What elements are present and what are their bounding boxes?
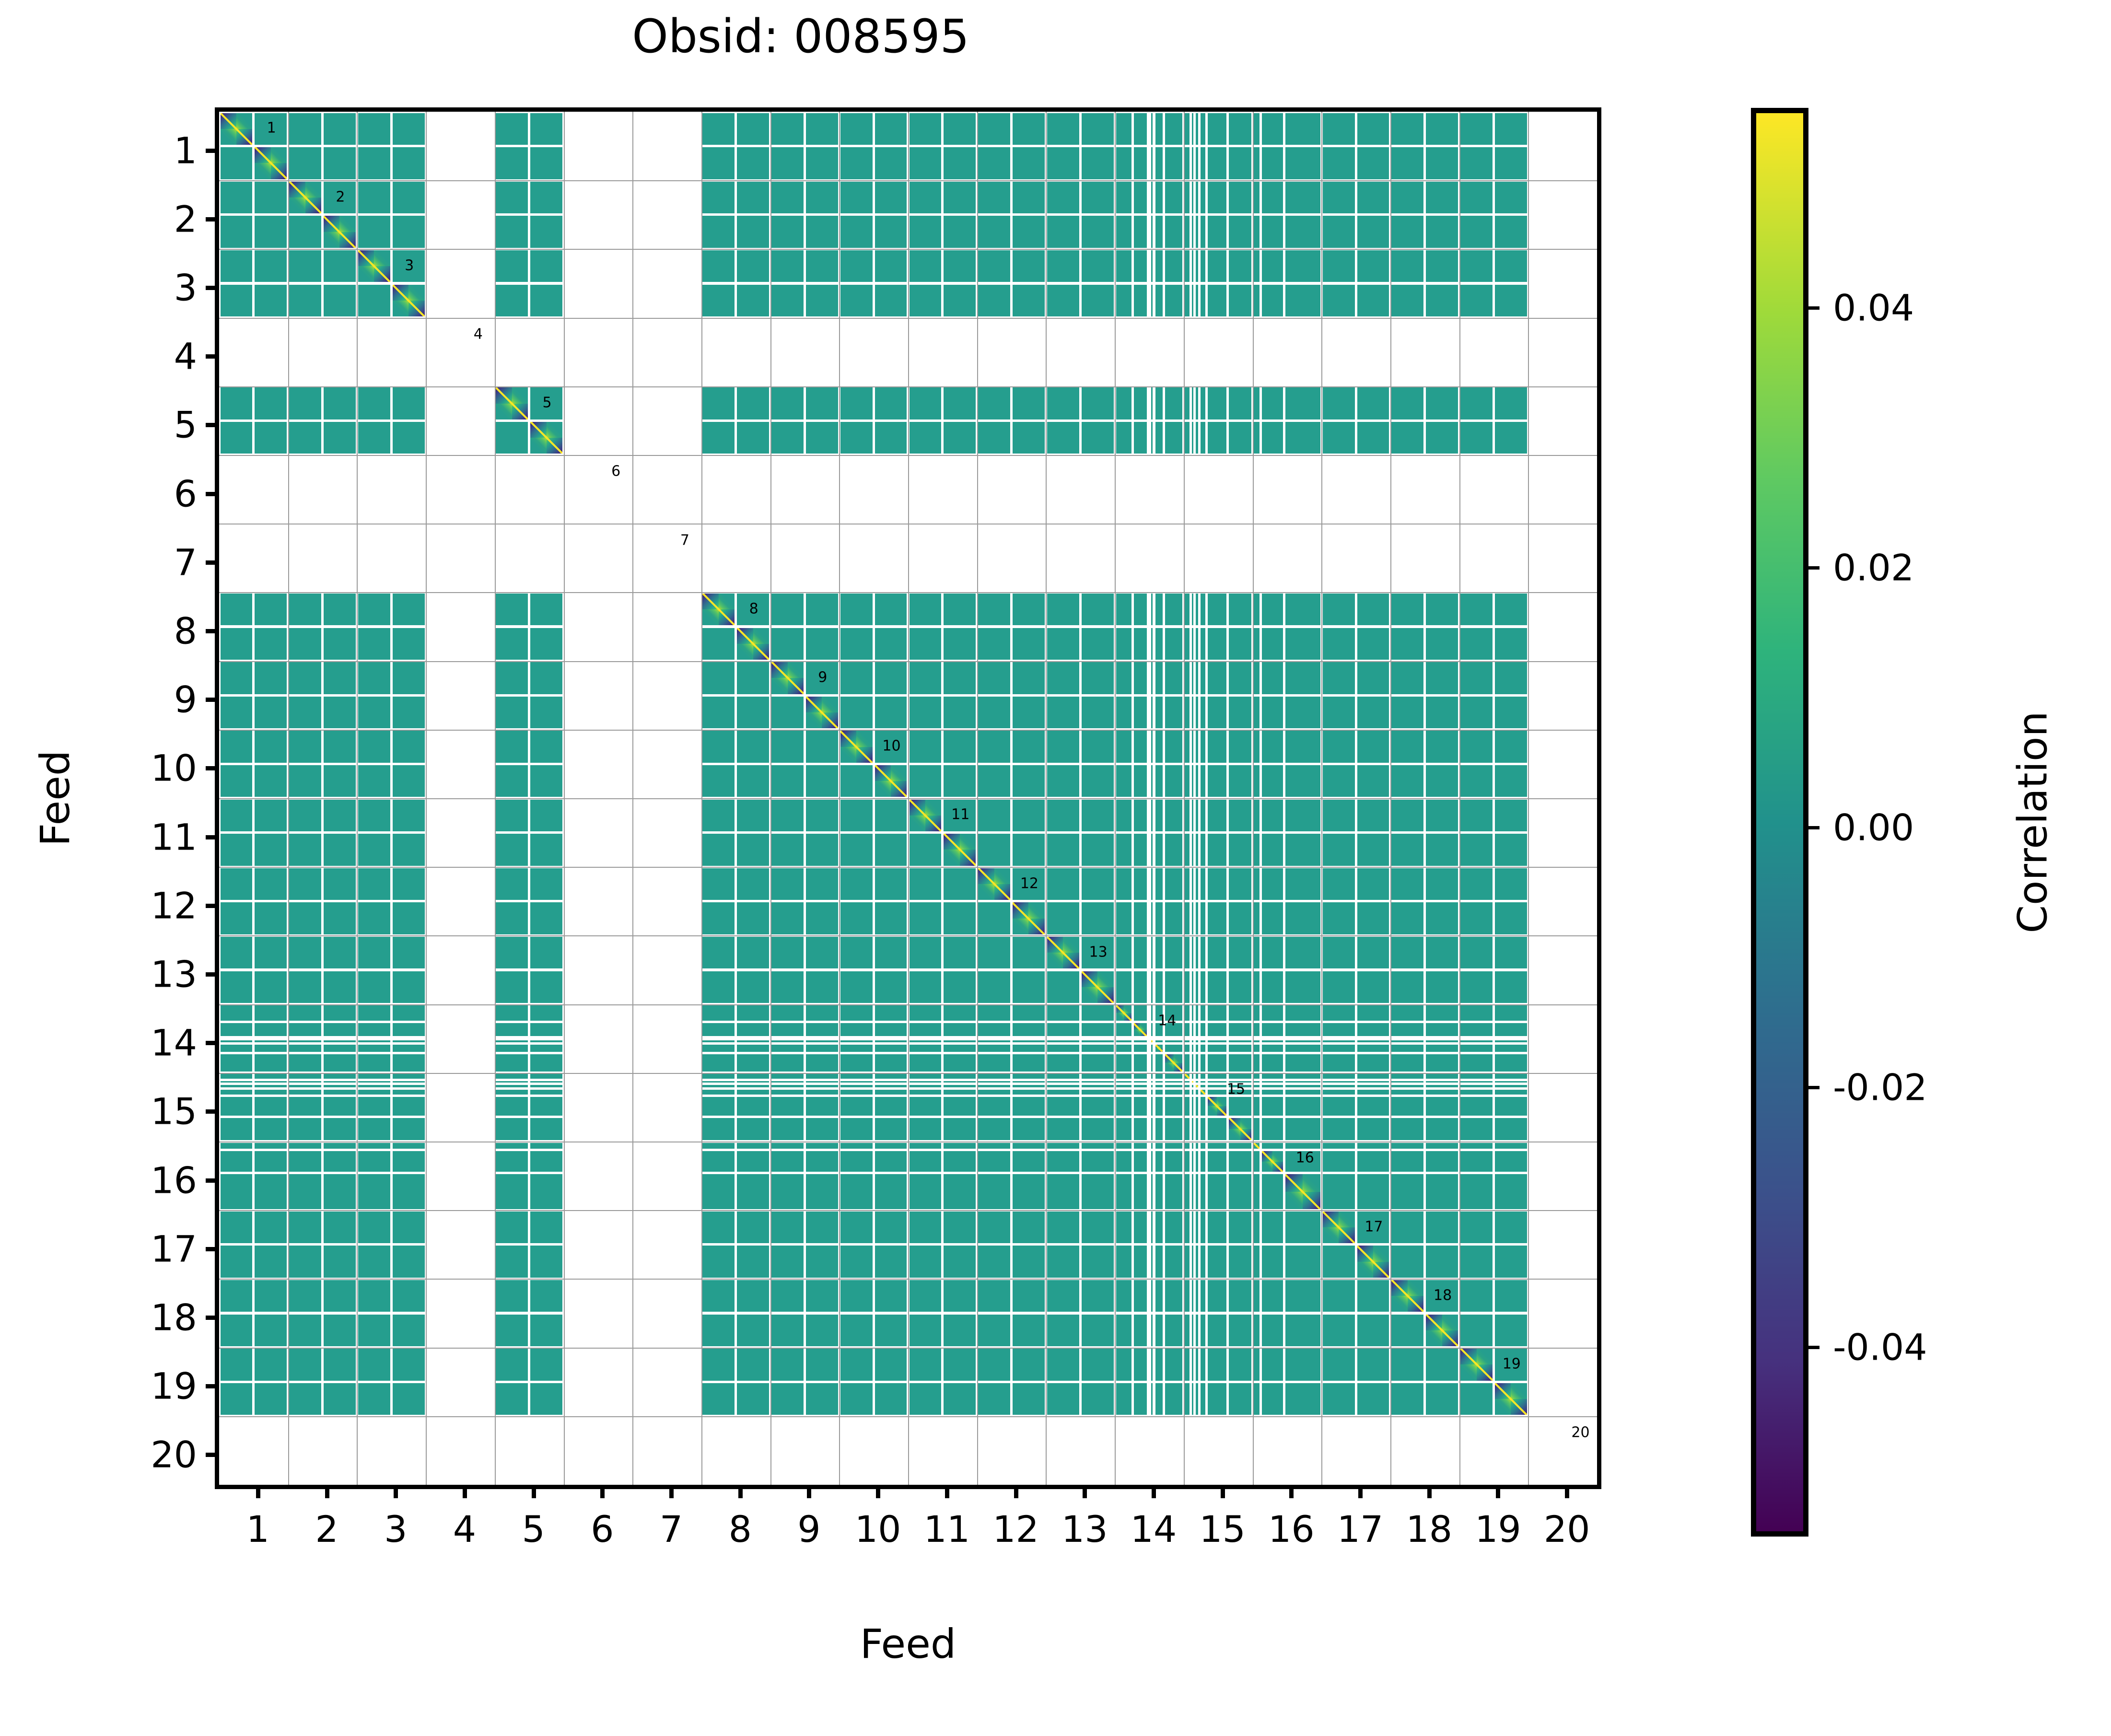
correlation-cell	[1196, 971, 1198, 1003]
correlation-cell	[1047, 1085, 1079, 1087]
colorbar[interactable]: 0.040.020.00-0.02-0.04	[1751, 108, 1808, 1537]
correlation-cell	[1285, 594, 1320, 626]
y-axis-tick-label: 18	[151, 1296, 197, 1339]
correlation-cell	[1262, 147, 1283, 179]
y-axis-tick	[206, 1384, 219, 1388]
correlation-cell	[255, 1246, 287, 1278]
correlation-cell	[1116, 1151, 1131, 1172]
autocorrelation-block	[1047, 937, 1079, 969]
correlation-cell	[1357, 1023, 1389, 1036]
correlation-cell	[1185, 1090, 1189, 1094]
correlation-cell	[1196, 285, 1198, 317]
correlation-cell	[1229, 594, 1251, 626]
x-axis-tick-label: 17	[1337, 1508, 1384, 1550]
correlation-cell	[255, 834, 287, 866]
correlation-cell	[496, 594, 528, 626]
correlation-cell	[1134, 1212, 1147, 1244]
correlation-cell	[358, 868, 390, 900]
correlation-cell	[771, 1143, 804, 1149]
correlation-cell	[1192, 1174, 1194, 1209]
correlation-cell	[1426, 1081, 1458, 1083]
correlation-cell	[702, 422, 735, 454]
correlation-cell	[1460, 250, 1493, 282]
y-axis-tick	[206, 1109, 219, 1114]
correlation-cell	[1357, 628, 1389, 660]
correlation-cell	[910, 902, 942, 934]
correlation-cell	[1047, 697, 1079, 729]
correlation-cell	[324, 1118, 356, 1141]
correlation-cell	[1357, 868, 1389, 900]
correlation-cell	[1229, 1246, 1251, 1278]
correlation-cell	[496, 1212, 528, 1244]
correlation-cell	[1254, 1040, 1260, 1042]
correlation-cell	[1165, 937, 1183, 969]
correlation-cell	[1201, 422, 1205, 454]
correlation-cell	[702, 1040, 735, 1042]
x-axis-tick	[1427, 1485, 1432, 1498]
correlation-cell	[1047, 216, 1079, 248]
correlation-cell	[1495, 731, 1527, 763]
correlation-cell	[1155, 594, 1163, 626]
correlation-cell	[1208, 937, 1227, 969]
correlation-cell	[1323, 1045, 1355, 1052]
correlation-cell	[1229, 868, 1251, 900]
correlation-cell	[1013, 628, 1045, 660]
correlation-cell	[1116, 1174, 1131, 1209]
correlation-cell	[1082, 1074, 1114, 1078]
correlation-cell	[1151, 1315, 1153, 1347]
correlation-cell	[1254, 216, 1260, 248]
correlation-cell	[1151, 1280, 1153, 1312]
correlation-cell	[1155, 628, 1163, 660]
correlation-cell	[1357, 1081, 1389, 1083]
correlation-cell	[840, 800, 873, 832]
correlation-cell	[1196, 1143, 1198, 1149]
correlation-cell	[393, 1118, 425, 1141]
correlation-cell	[1192, 1315, 1194, 1347]
correlation-cell	[1391, 1040, 1423, 1042]
correlation-cell	[1208, 594, 1227, 626]
correlation-cell	[1116, 216, 1131, 248]
correlation-cell	[944, 1280, 976, 1312]
correlation-cell	[1185, 868, 1189, 900]
correlation-cell	[702, 834, 735, 866]
correlation-cell	[221, 937, 253, 969]
correlation-cell	[1262, 1054, 1283, 1072]
correlation-cell	[1262, 834, 1283, 866]
correlation-cell	[1013, 1174, 1045, 1209]
correlation-cell	[255, 765, 287, 797]
autocorrelation-quadrant	[1063, 937, 1079, 953]
correlation-cell	[324, 697, 356, 729]
correlation-cell	[1285, 1143, 1320, 1149]
correlation-cell	[910, 250, 942, 282]
correlation-cell	[840, 422, 873, 454]
correlation-cell	[875, 1246, 907, 1278]
correlation-cell	[1229, 250, 1251, 282]
correlation-cell	[255, 937, 287, 969]
correlation-cell	[806, 1246, 838, 1278]
correlation-cell	[1013, 1315, 1045, 1347]
correlation-cell	[1426, 971, 1458, 1003]
correlation-cell	[289, 1081, 321, 1083]
correlation-cell	[1201, 1174, 1205, 1209]
correlation-cell	[1185, 628, 1189, 660]
correlation-cell	[1013, 1280, 1045, 1312]
correlation-cell	[978, 1280, 1010, 1312]
correlation-cell	[1134, 628, 1147, 660]
correlation-cell	[875, 1349, 907, 1381]
correlation-cell	[221, 1280, 253, 1312]
correlation-cell	[1254, 731, 1260, 763]
correlation-cell	[806, 1097, 838, 1116]
correlation-cell	[1082, 800, 1114, 832]
correlation-cell	[1196, 1097, 1198, 1116]
correlation-cell	[702, 1005, 735, 1021]
correlation-cell	[1460, 113, 1493, 145]
correlation-cell	[771, 1212, 804, 1244]
correlation-cell	[1082, 422, 1114, 454]
correlation-cell	[1192, 731, 1194, 763]
correlation-cell	[737, 250, 769, 282]
autocorrelation-quadrant	[358, 266, 374, 282]
correlation-cell	[806, 800, 838, 832]
correlation-cell	[1208, 628, 1227, 660]
correlation-cell	[221, 1151, 253, 1172]
correlation-cell	[1426, 765, 1458, 797]
correlation-cell	[1426, 1143, 1458, 1149]
heatmap-axes[interactable]: 1234567891011121314151617181920 12345678…	[215, 107, 1601, 1489]
correlation-cell	[1208, 1212, 1227, 1244]
correlation-cell	[530, 1045, 562, 1052]
correlation-cell	[1082, 1280, 1114, 1312]
correlation-cell	[1229, 147, 1251, 179]
correlation-cell	[1460, 594, 1493, 626]
correlation-cell	[944, 1118, 976, 1141]
correlation-cell	[1192, 1054, 1194, 1072]
colorbar-tick-label: 0.02	[1833, 547, 1914, 589]
correlation-cell	[840, 1081, 873, 1083]
x-axis-tick	[738, 1485, 743, 1498]
correlation-cell	[771, 902, 804, 934]
correlation-cell	[1201, 285, 1205, 317]
correlation-cell	[1082, 868, 1114, 900]
correlation-cell	[1495, 697, 1527, 729]
correlation-cell	[393, 731, 425, 763]
correlation-cell	[737, 1212, 769, 1244]
correlation-cell	[771, 113, 804, 145]
correlation-cell	[806, 1090, 838, 1094]
correlation-cell	[1495, 285, 1527, 317]
correlation-cell	[1151, 971, 1153, 1003]
correlation-cell	[1460, 182, 1493, 214]
correlation-cell	[1047, 113, 1079, 145]
correlation-cell	[1196, 765, 1198, 797]
correlation-cell	[1151, 902, 1153, 934]
autocorrelation-block	[1134, 1023, 1147, 1036]
correlation-cell	[221, 628, 253, 660]
correlation-cell	[1285, 1085, 1320, 1087]
correlation-cell	[1082, 697, 1114, 729]
x-axis-tick	[1496, 1485, 1500, 1498]
correlation-cell	[702, 1074, 735, 1078]
colorbar-tick-label: 0.04	[1833, 287, 1914, 329]
correlation-cell	[910, 971, 942, 1003]
correlation-cell	[1357, 765, 1389, 797]
correlation-cell	[737, 422, 769, 454]
correlation-cell	[702, 250, 735, 282]
correlation-cell	[1460, 902, 1493, 934]
correlation-cell	[806, 1151, 838, 1172]
correlation-cell	[289, 971, 321, 1003]
correlation-cell	[530, 902, 562, 934]
correlation-cell	[1262, 594, 1283, 626]
correlation-cell	[1151, 1118, 1153, 1141]
correlation-cell	[289, 662, 321, 694]
feed-index-annotation: 4	[474, 326, 483, 342]
correlation-cell	[1357, 422, 1389, 454]
correlation-cell	[1151, 697, 1153, 729]
correlation-cell	[1185, 971, 1189, 1003]
x-axis-tick	[325, 1485, 329, 1498]
correlation-cell	[1196, 1045, 1198, 1052]
correlation-cell	[1155, 147, 1163, 179]
correlation-cell	[1196, 1040, 1198, 1042]
correlation-cell	[771, 1085, 804, 1087]
correlation-cell	[1165, 868, 1183, 900]
autocorrelation-quadrant	[1124, 1005, 1131, 1013]
y-axis-tick	[206, 904, 219, 908]
correlation-cell	[1495, 800, 1527, 832]
autocorrelation-quadrant	[1028, 902, 1044, 918]
correlation-cell	[944, 1005, 976, 1021]
correlation-cell	[1262, 765, 1283, 797]
correlation-cell	[1165, 113, 1183, 145]
correlation-cell	[1134, 834, 1147, 866]
correlation-cell	[910, 628, 942, 660]
correlation-cell	[1426, 147, 1458, 179]
correlation-cell	[324, 113, 356, 145]
correlation-cell	[875, 1005, 907, 1021]
correlation-cell	[944, 765, 976, 797]
correlation-cell	[1185, 937, 1189, 969]
correlation-cell	[1155, 765, 1163, 797]
correlation-cell	[806, 1280, 838, 1312]
correlation-cell	[530, 1246, 562, 1278]
correlation-cell	[393, 971, 425, 1003]
gridline-horizontal	[219, 1416, 1597, 1417]
correlation-cell	[702, 1097, 735, 1116]
correlation-cell	[1229, 628, 1251, 660]
correlation-cell	[840, 387, 873, 419]
correlation-cell	[944, 1074, 976, 1078]
correlation-cell	[1229, 1280, 1251, 1312]
correlation-cell	[771, 594, 804, 626]
correlation-cell	[1229, 1023, 1251, 1036]
correlation-cell	[1185, 285, 1189, 317]
heatmap-plot-area[interactable]: 1234567891011121314151617181920	[219, 112, 1597, 1485]
correlation-cell	[1460, 1081, 1493, 1083]
correlation-cell	[530, 1074, 562, 1078]
correlation-cell	[221, 250, 253, 282]
x-axis-tick	[1014, 1485, 1018, 1498]
correlation-cell	[496, 1023, 528, 1036]
correlation-cell	[840, 834, 873, 866]
autocorrelation-block	[1262, 1151, 1283, 1172]
correlation-cell	[1460, 1097, 1493, 1116]
correlation-cell	[1165, 1118, 1183, 1141]
correlation-cell	[1357, 662, 1389, 694]
correlation-cell	[737, 1246, 769, 1278]
correlation-cell	[1285, 1349, 1320, 1381]
correlation-cell	[324, 628, 356, 660]
correlation-cell	[1229, 216, 1251, 248]
correlation-cell	[1151, 662, 1153, 694]
correlation-cell	[1082, 1349, 1114, 1381]
correlation-cell	[806, 628, 838, 660]
correlation-cell	[737, 1174, 769, 1209]
correlation-cell	[840, 1054, 873, 1072]
autocorrelation-block	[530, 422, 562, 454]
correlation-cell	[1116, 1054, 1131, 1072]
y-axis-tick-label: 9	[174, 678, 197, 721]
correlation-cell	[1391, 765, 1423, 797]
correlation-cell	[1151, 1246, 1153, 1278]
correlation-cell	[944, 971, 976, 1003]
correlation-cell	[1426, 1090, 1458, 1094]
x-axis-tick	[394, 1485, 398, 1498]
correlation-cell	[840, 937, 873, 969]
correlation-cell	[530, 662, 562, 694]
correlation-cell	[1082, 216, 1114, 248]
correlation-cell	[255, 731, 287, 763]
correlation-cell	[1155, 1085, 1163, 1087]
correlation-cell	[910, 1090, 942, 1094]
correlation-cell	[1155, 868, 1163, 900]
correlation-cell	[1426, 216, 1458, 248]
correlation-cell	[1134, 113, 1147, 145]
correlation-cell	[1495, 1212, 1527, 1244]
correlation-cell	[1208, 216, 1227, 248]
correlation-cell	[530, 1349, 562, 1381]
correlation-cell	[771, 387, 804, 419]
correlation-cell	[806, 216, 838, 248]
correlation-cell	[1357, 800, 1389, 832]
autocorrelation-block	[358, 250, 390, 282]
correlation-cell	[1116, 1246, 1131, 1278]
correlation-cell	[1192, 216, 1194, 248]
correlation-cell	[1201, 1383, 1205, 1415]
correlation-cell	[255, 1349, 287, 1381]
correlation-cell	[1013, 1246, 1045, 1278]
correlation-cell	[944, 868, 976, 900]
correlation-cell	[910, 1151, 942, 1172]
correlation-cell	[255, 1045, 287, 1052]
correlation-cell	[289, 1045, 321, 1052]
correlation-cell	[1426, 1074, 1458, 1078]
correlation-cell	[255, 594, 287, 626]
correlation-cell	[496, 800, 528, 832]
correlation-cell	[1196, 1349, 1198, 1381]
correlation-cell	[1262, 250, 1283, 282]
correlation-cell	[530, 182, 562, 214]
correlation-cell	[1391, 594, 1423, 626]
autocorrelation-block	[1013, 902, 1045, 934]
correlation-cell	[496, 182, 528, 214]
correlation-cell	[289, 1005, 321, 1021]
correlation-cell	[1151, 1090, 1153, 1094]
feed-index-annotation: 11	[951, 806, 969, 823]
correlation-cell	[1155, 250, 1163, 282]
correlation-cell	[1047, 1143, 1079, 1149]
correlation-cell	[1254, 800, 1260, 832]
correlation-cell	[1116, 285, 1131, 317]
correlation-cell	[358, 1349, 390, 1381]
correlation-cell	[1201, 1005, 1205, 1021]
correlation-matrix-figure: Obsid: 008595 12345678910111213141516171…	[0, 0, 2111, 1736]
correlation-cell	[324, 1349, 356, 1381]
correlation-cell	[358, 113, 390, 145]
correlation-cell	[1134, 1081, 1147, 1083]
correlation-cell	[1013, 1097, 1045, 1116]
y-axis-tick-label: 5	[174, 404, 197, 446]
autocorrelation-quadrant	[1303, 1174, 1320, 1191]
correlation-cell	[910, 937, 942, 969]
correlation-cell	[702, 1081, 735, 1083]
correlation-cell	[1165, 594, 1183, 626]
correlation-cell	[1201, 902, 1205, 934]
correlation-cell	[944, 250, 976, 282]
correlation-cell	[1082, 285, 1114, 317]
correlation-cell	[1013, 422, 1045, 454]
correlation-cell	[944, 1246, 976, 1278]
correlation-cell	[1229, 1045, 1251, 1052]
autocorrelation-block	[1208, 1097, 1227, 1116]
y-axis-tick	[206, 766, 219, 770]
correlation-cell	[1201, 594, 1205, 626]
correlation-cell	[1229, 1212, 1251, 1244]
correlation-cell	[1082, 1315, 1114, 1347]
correlation-cell	[1082, 1005, 1114, 1021]
correlation-cell	[1185, 1143, 1189, 1149]
correlation-cell	[530, 731, 562, 763]
correlation-cell	[1262, 1246, 1283, 1278]
correlation-cell	[358, 1246, 390, 1278]
autocorrelation-quadrant	[1477, 1349, 1493, 1364]
correlation-cell	[1262, 182, 1283, 214]
correlation-cell	[1196, 1074, 1198, 1078]
correlation-cell	[1495, 1023, 1527, 1036]
correlation-cell	[978, 250, 1010, 282]
y-axis-tick	[206, 972, 219, 977]
correlation-cell	[771, 800, 804, 832]
correlation-cell	[1165, 902, 1183, 934]
correlation-cell	[978, 765, 1010, 797]
correlation-cell	[1192, 250, 1194, 282]
correlation-cell	[910, 1005, 942, 1021]
figure-title: Obsid: 008595	[0, 10, 1601, 63]
correlation-cell	[255, 387, 287, 419]
correlation-cell	[1192, 1023, 1194, 1036]
correlation-cell	[496, 868, 528, 900]
correlation-cell	[358, 182, 390, 214]
correlation-cell	[221, 1097, 253, 1116]
unity-diagonal-ridge	[1192, 1081, 1194, 1083]
correlation-cell	[1460, 1383, 1493, 1415]
correlation-cell	[324, 147, 356, 179]
correlation-cell	[806, 971, 838, 1003]
correlation-cell	[221, 1143, 253, 1149]
